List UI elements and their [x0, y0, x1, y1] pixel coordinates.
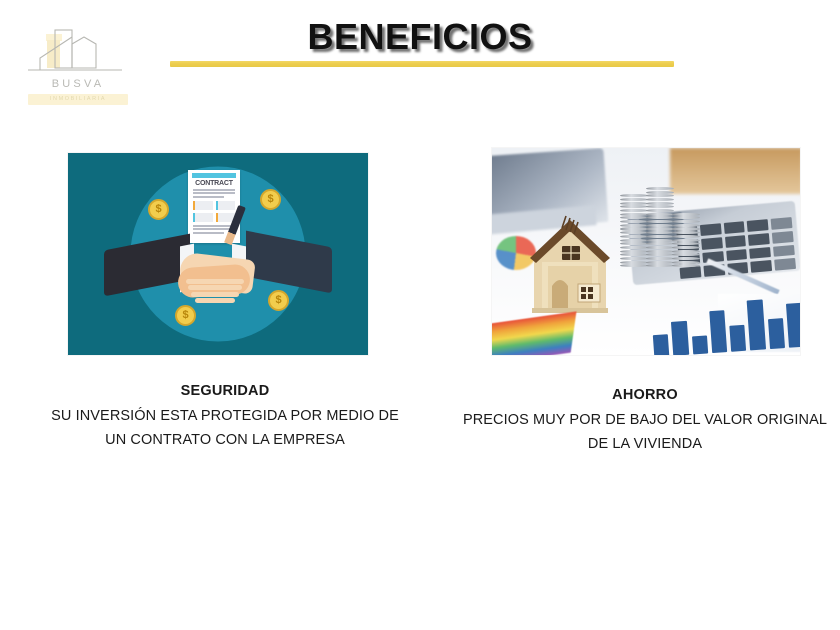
contract-document-label: CONTRACT: [192, 180, 236, 187]
coin-icon: $: [175, 305, 196, 326]
wood-surface: [670, 148, 800, 194]
bar-chart-paper: [650, 285, 800, 355]
photo-backdrop: [492, 148, 800, 355]
coin-stack: [620, 194, 648, 268]
logo-name: BUSVA: [22, 78, 134, 90]
logo-subtitle: INMOBILIARIA: [28, 94, 128, 105]
wooden-model-house: [522, 210, 618, 320]
benefit-card-seguridad: CONTRACT $ $ $ $ SEGURIDAD SU I: [40, 153, 410, 452]
slide-beneficios: BUSVA INMOBILIARIA BENEFICIOS CONTRACT: [0, 0, 840, 630]
coin-stack: [672, 213, 700, 268]
model-house-coins-calculator-photo: [492, 148, 800, 355]
coin-icon: $: [148, 199, 169, 220]
page-title: BENEFICIOS: [0, 16, 840, 58]
benefit-card-ahorro: AHORRO PRECIOS MUY POR DE BAJO DEL VALOR…: [460, 148, 830, 456]
handshake-contract-illustration: CONTRACT $ $ $ $: [68, 153, 368, 355]
coin-icon: $: [268, 290, 289, 311]
benefit-body: PRECIOS MUY POR DE BAJO DEL VALOR ORIGIN…: [460, 408, 830, 456]
benefit-heading: SEGURIDAD: [40, 383, 410, 399]
rainbow-chart-paper: [492, 311, 576, 355]
benefit-heading: AHORRO: [460, 387, 830, 403]
coin-icon: $: [260, 189, 281, 210]
title-underline-rule: [170, 61, 674, 67]
benefit-body: SU INVERSIÓN ESTA PROTEGIDA POR MEDIO DE…: [40, 404, 410, 452]
coin-stack: [646, 187, 674, 268]
fingers: [184, 279, 246, 303]
